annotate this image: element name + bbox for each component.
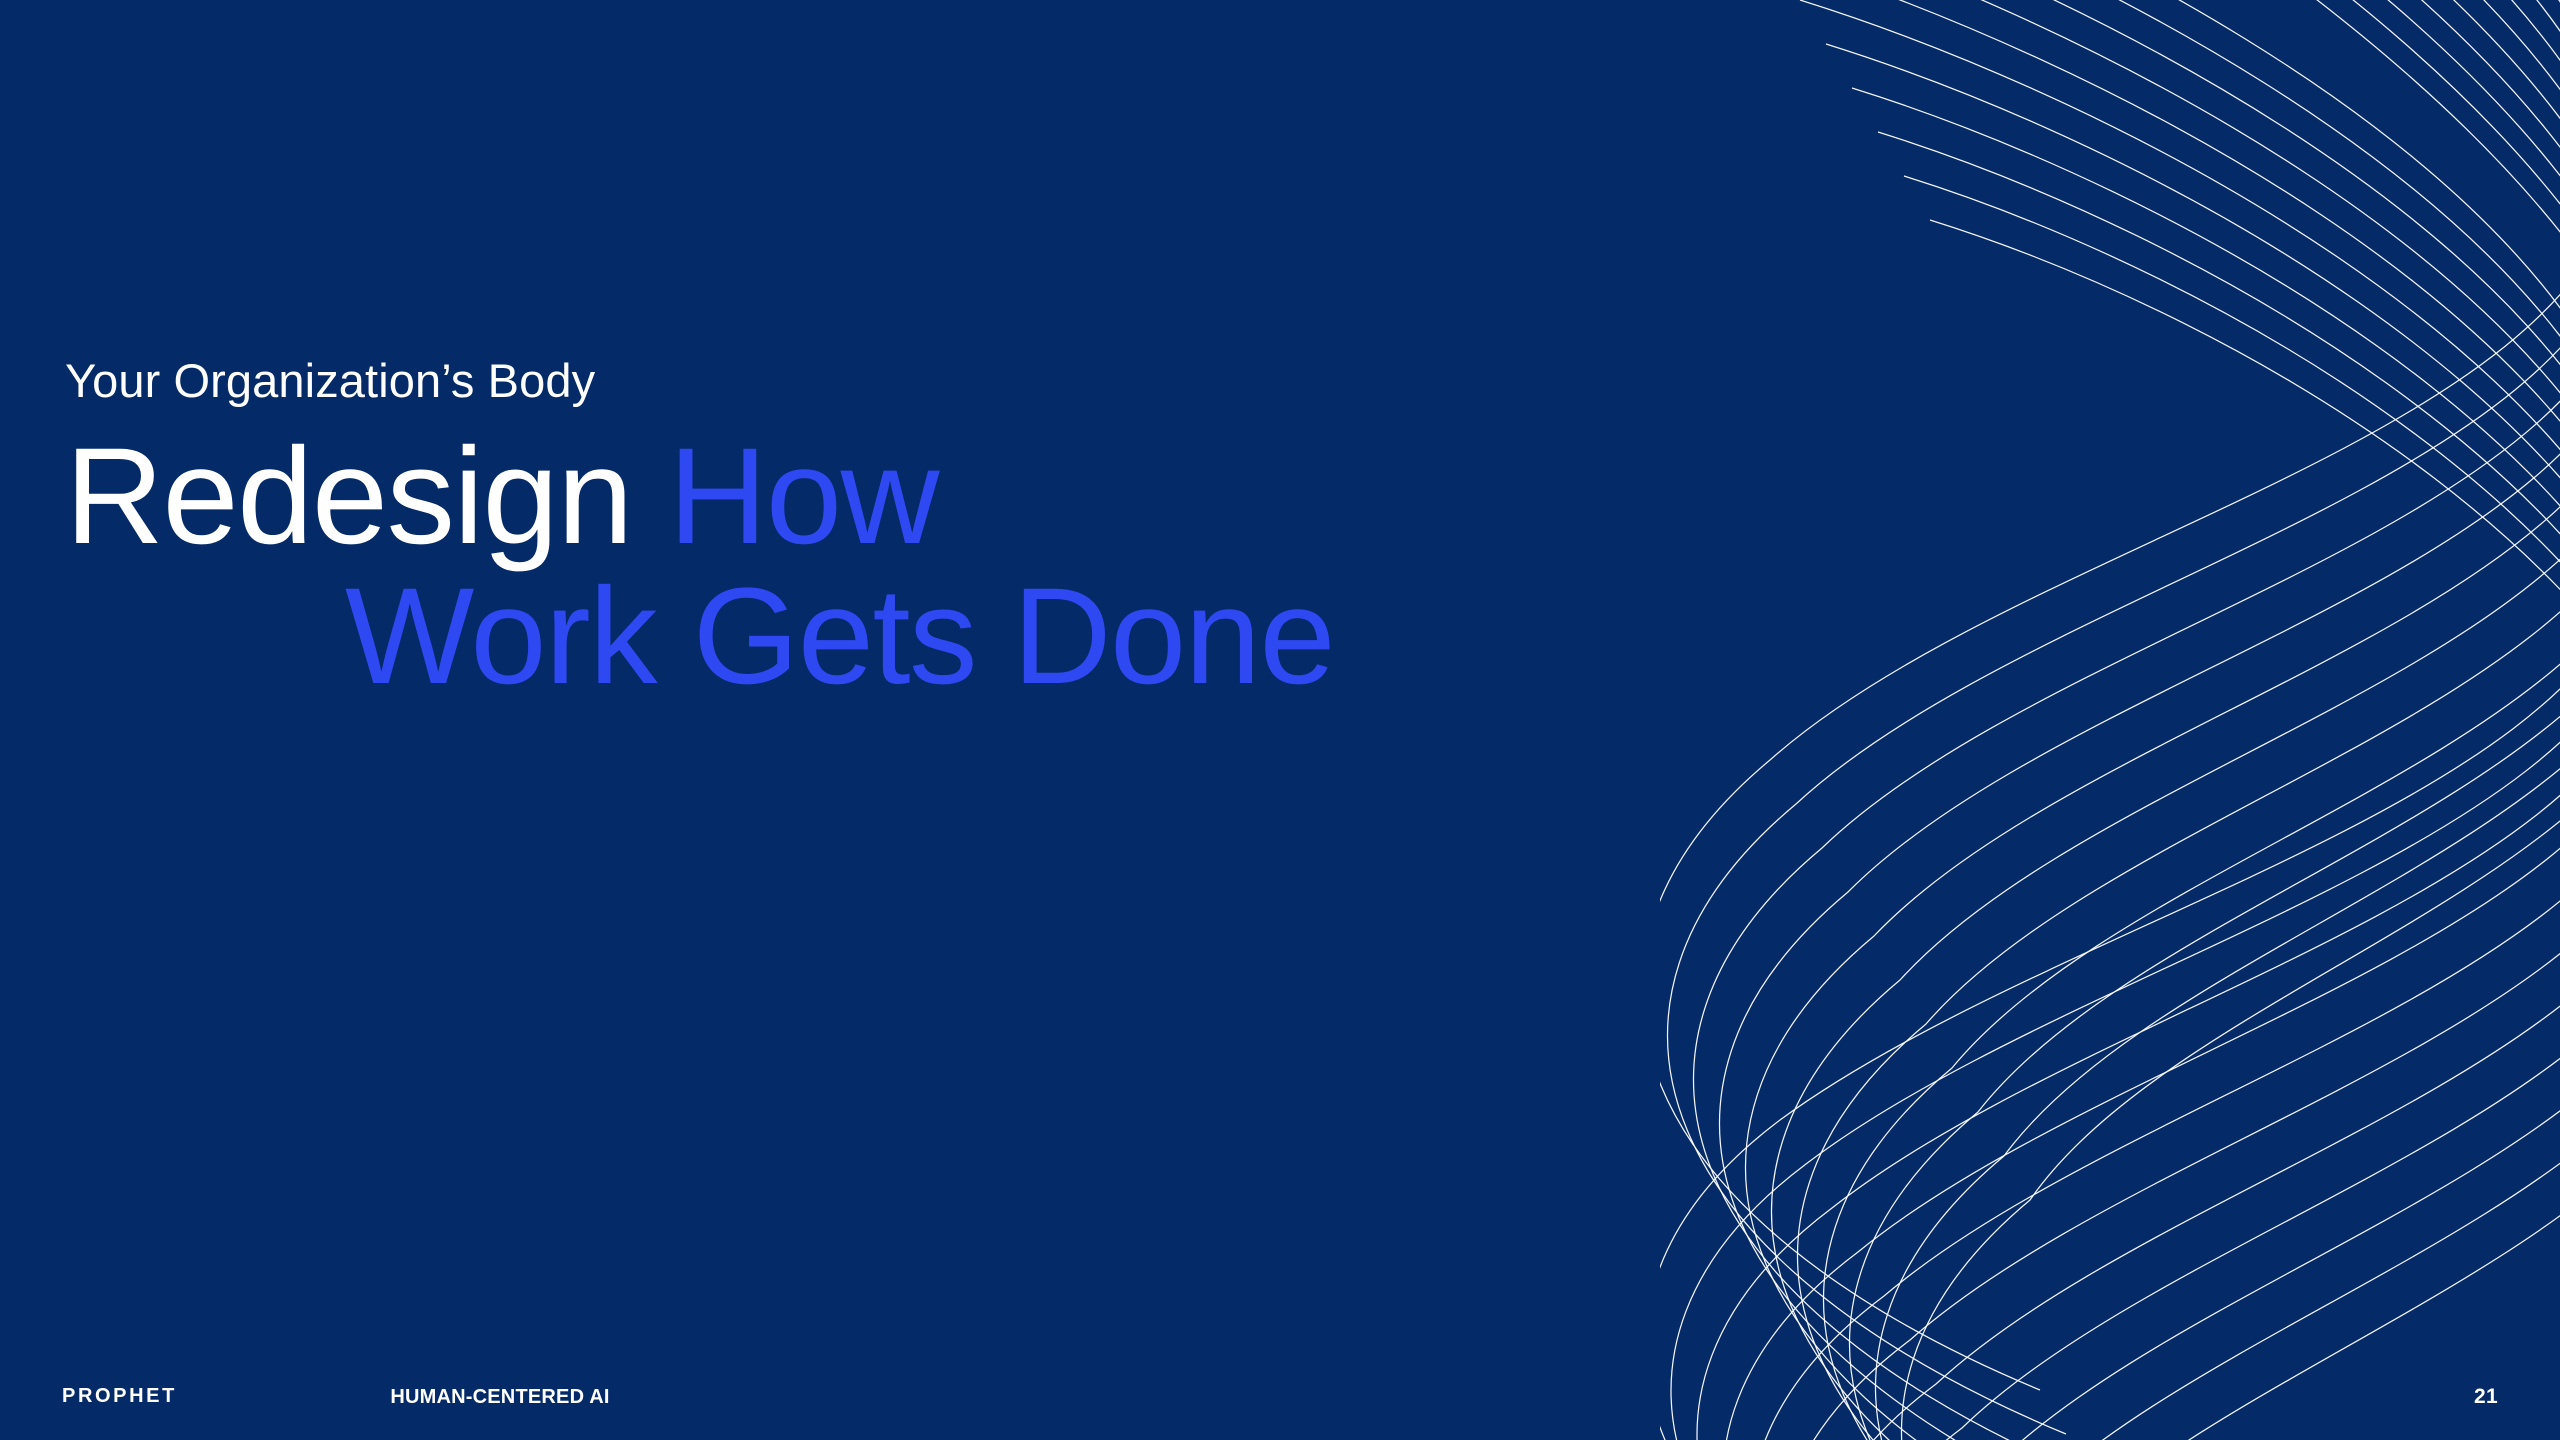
footer-section-label: HUMAN-CENTERED AI bbox=[0, 1387, 1780, 1407]
ribbon-strand bbox=[1905, 220, 2560, 1440]
ribbon-strand bbox=[1798, 0, 2560, 1440]
helix-ribbon-decoration bbox=[1660, 0, 2560, 1440]
headline-word-redesign: Redesign bbox=[65, 420, 632, 573]
ribbon-strand bbox=[1824, 0, 2560, 1440]
ribbon-strand bbox=[1671, 0, 2560, 1440]
slide-text-block: Your Organization’s Body Redesign How Wo… bbox=[65, 356, 1565, 707]
headline-word-how: How bbox=[668, 420, 938, 573]
page-title: Redesign How Work Gets Done bbox=[65, 427, 1565, 706]
headline-space bbox=[632, 420, 669, 573]
ribbon-strand bbox=[1723, 0, 2560, 1440]
helix-ribbon-svg bbox=[1660, 0, 2560, 1440]
ribbon-strand bbox=[1660, 0, 2560, 1440]
ribbon-strand bbox=[1902, 0, 2560, 1440]
presentation-slide: Your Organization’s Body Redesign How Wo… bbox=[0, 0, 2560, 1440]
ribbon-strand bbox=[1775, 0, 2560, 1440]
ribbon-strand bbox=[1694, 0, 2560, 1440]
ribbon-strand bbox=[1772, 0, 2560, 1440]
ribbon-strand bbox=[1749, 0, 2560, 1440]
ribbon-strand bbox=[1879, 176, 2560, 1440]
ribbon-strand bbox=[1827, 88, 2560, 1440]
ribbon-strand bbox=[1746, 0, 2560, 1440]
page-number: 21 bbox=[2474, 1386, 2498, 1407]
ribbon-strand bbox=[1668, 0, 2560, 1434]
slide-footer: PROPHET HUMAN-CENTERED AI 21 bbox=[0, 1344, 2560, 1440]
headline-line-2: Work Gets Done bbox=[65, 567, 1565, 707]
eyebrow-text: Your Organization’s Body bbox=[65, 356, 1565, 405]
headline-phrase-work-gets-done: Work Gets Done bbox=[345, 560, 1334, 713]
headline-line-1: Redesign How bbox=[65, 427, 1565, 567]
ribbon-strand bbox=[1850, 0, 2560, 1440]
ribbon-strand bbox=[1853, 132, 2560, 1440]
ribbon-strand bbox=[1660, 0, 2560, 1390]
ribbon-strand bbox=[1801, 44, 2560, 1440]
ribbon-strand bbox=[1720, 0, 2560, 1440]
ribbon-strand bbox=[1876, 0, 2560, 1440]
ribbon-strand bbox=[1697, 0, 2560, 1440]
